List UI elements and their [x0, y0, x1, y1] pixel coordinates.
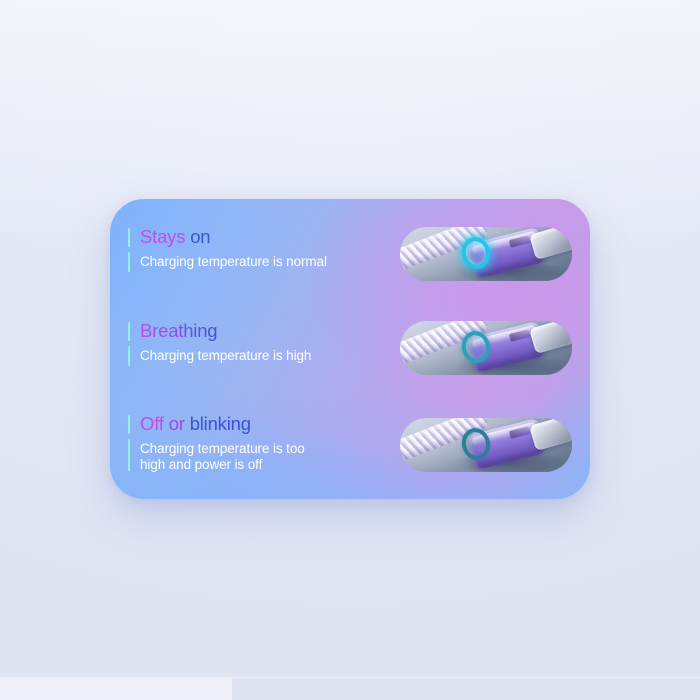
title-token: on [185, 226, 210, 247]
accent-bar-icon [128, 322, 130, 341]
indicator-row-breathing: Breathing Charging temperature is high [128, 319, 568, 375]
indicator-description: Charging temperature is toohigh and powe… [140, 441, 386, 473]
indicator-title: Breathing [140, 320, 386, 342]
cable-thumbnail-breathing [400, 321, 572, 375]
accent-bar-icon [128, 415, 130, 434]
indicator-row-off-or-blinking: Off or blinking Charging temperature is … [128, 412, 568, 473]
indicator-row-list: Stays on Charging temperature is normal [110, 199, 590, 499]
indicator-text-block: Stays on Charging temperature is normal [128, 225, 386, 270]
description-line: Charging temperature is too [140, 441, 305, 456]
indicator-description: Charging temperature is normal [140, 254, 386, 270]
led-indicator-card: Stays on Charging temperature is normal [110, 199, 590, 499]
title-token: blinking [190, 413, 251, 434]
indicator-title: Stays on [140, 226, 386, 248]
indicator-row-stays-on: Stays on Charging temperature is normal [128, 225, 568, 281]
indicator-text-block: Breathing Charging temperature is high [128, 319, 386, 364]
title-token: Breathing [140, 320, 217, 341]
description-line: high and power is off [140, 457, 262, 472]
title-token: or [164, 413, 190, 434]
cable-thumbnail-off-or-blinking [400, 418, 572, 472]
indicator-description: Charging temperature is high [140, 348, 386, 364]
indicator-title: Off or blinking [140, 413, 386, 435]
cable-thumbnail-stays-on [400, 227, 572, 281]
accent-bar-icon [128, 439, 130, 471]
backdrop-lower-patch [0, 678, 232, 700]
indicator-text-block: Off or blinking Charging temperature is … [128, 412, 386, 473]
accent-bar-icon [128, 252, 130, 272]
accent-bar-icon [128, 346, 130, 366]
title-token: Stays [140, 226, 185, 247]
accent-bar-icon [128, 228, 130, 247]
title-token: Off [140, 413, 164, 434]
